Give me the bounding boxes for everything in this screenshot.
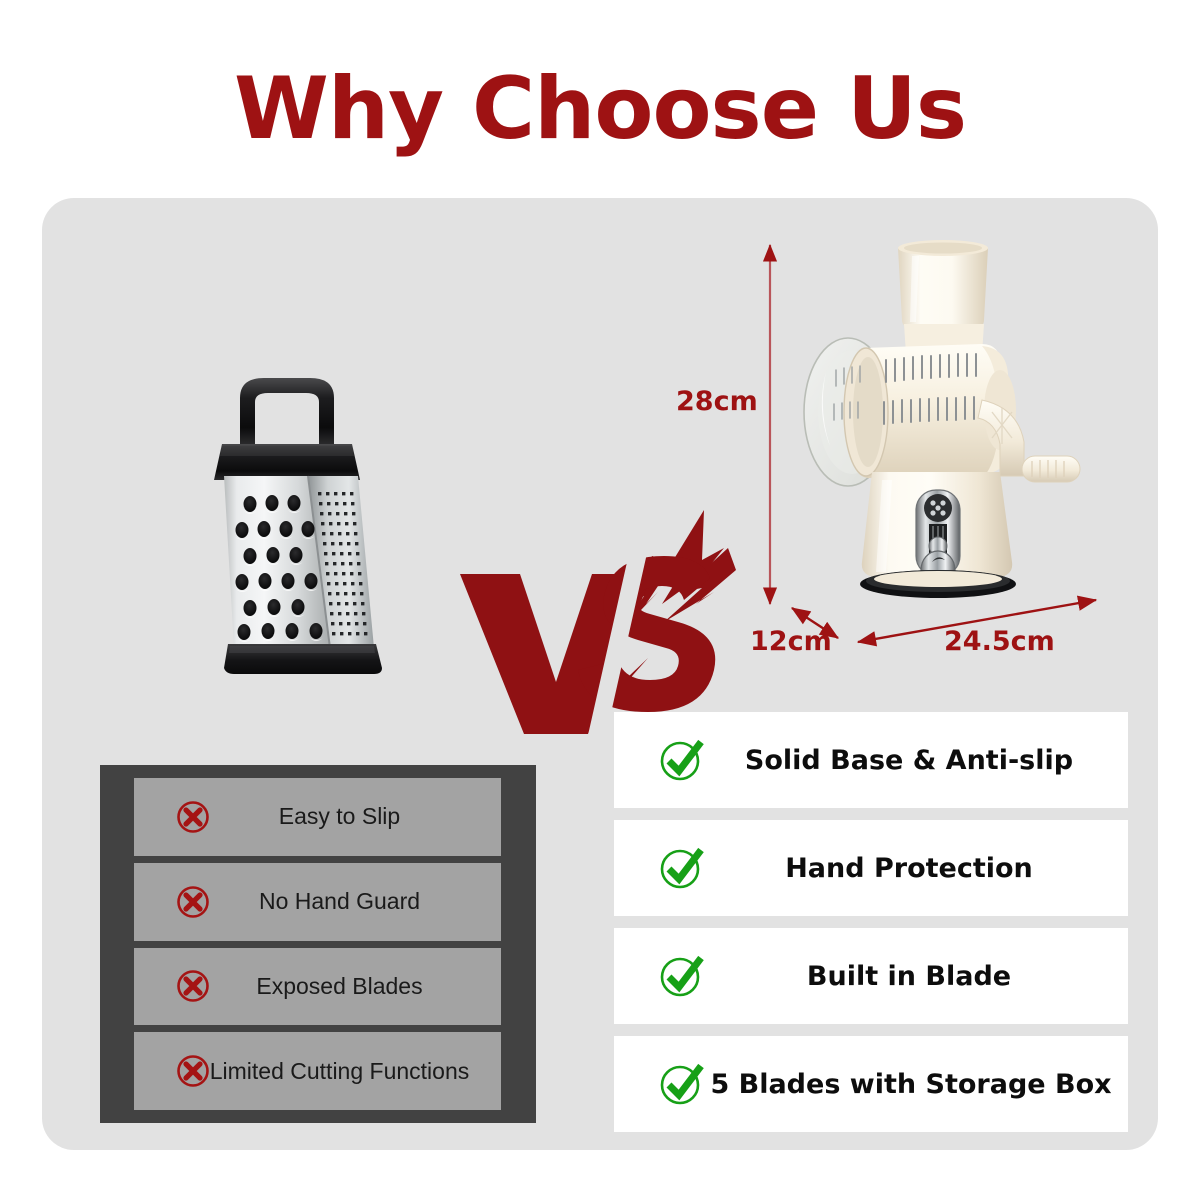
pros-item[interactable]: Built in Blade [614,928,1128,1024]
circled-check-icon [658,845,704,891]
circled-check-icon [658,737,704,783]
dimension-label-width: 24.5cm [944,626,1055,657]
cons-item[interactable]: Limited Cutting Functions [134,1032,501,1110]
dimension-label-depth: 12cm [750,626,832,657]
pros-item[interactable]: Solid Base & Anti-slip [614,712,1128,808]
cons-list: Easy to Slip No Hand Guard Exposed Blade… [100,765,536,1123]
page-title: Why Choose Us [0,66,1200,152]
infographic-root: Why Choose Us [0,0,1200,1200]
circled-x-icon [176,800,210,834]
circled-x-icon [176,1054,210,1088]
circled-check-icon [658,953,704,999]
cons-item[interactable]: No Hand Guard [134,863,501,941]
dimension-label-height: 28cm [676,386,758,417]
pros-item[interactable]: Hand Protection [614,820,1128,916]
rotary-grater-image [786,232,1086,604]
box-grater-image [178,372,406,682]
pros-list: Solid Base & Anti-slip Hand Protection B… [614,712,1128,1132]
cons-item[interactable]: Easy to Slip [134,778,501,856]
cons-item[interactable]: Exposed Blades [134,948,501,1026]
circled-check-icon [658,1061,704,1107]
pros-item[interactable]: 5 Blades with Storage Box [614,1036,1128,1132]
circled-x-icon [176,969,210,1003]
circled-x-icon [176,885,210,919]
